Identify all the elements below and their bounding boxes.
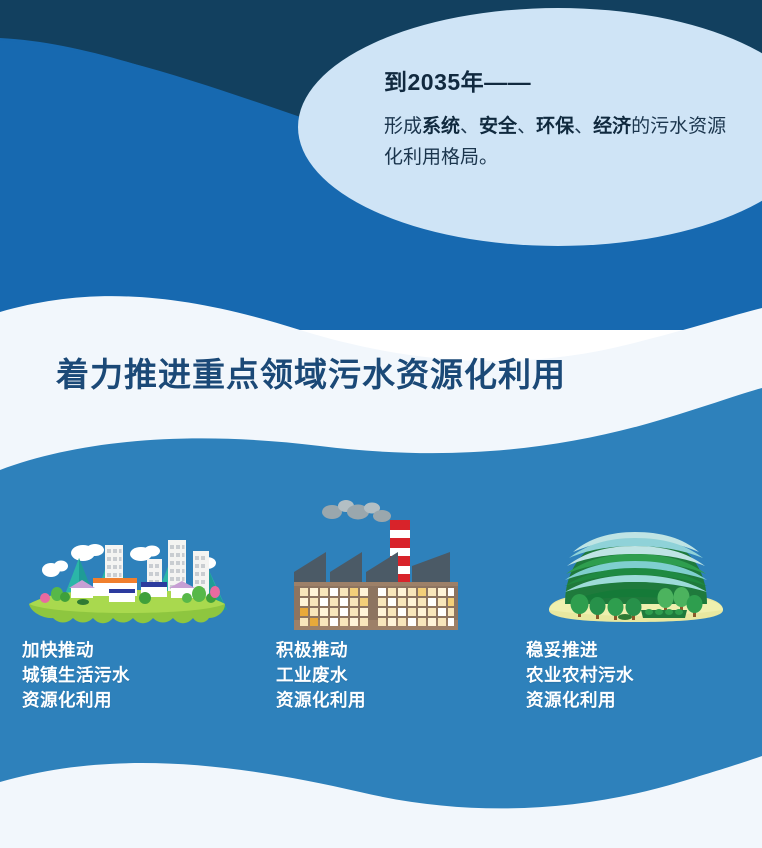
goal-sep-3: 、 [574,116,593,137]
goal-description: 形成系统、安全、环保、经济的污水资源化利用格局。 [384,112,736,174]
focus-area-rural[interactable]: 稳妥推进 农业农村污水 资源化利用 [520,480,750,713]
section-headline: 着力推进重点领域污水资源化利用 [56,348,566,396]
goal-sep-1: 、 [460,116,479,137]
goal-emphasis-safe: 安全 [479,116,517,137]
goal-emphasis-economic: 经济 [593,116,631,137]
city-landscape-icon [12,480,242,630]
focus-area-industrial[interactable]: 积极推动 工业废水 资源化利用 [266,480,496,713]
goal-year-title: 到2035年—— [384,68,736,97]
focus-area-rural-label: 稳妥推进 农业农村污水 资源化利用 [520,638,634,713]
goal-sep-2: 、 [517,116,536,137]
infographic-poster: 到2035年—— 形成系统、安全、环保、经济的污水资源化利用格局。 着力推进重点… [0,0,762,848]
goal-emphasis-eco: 环保 [536,116,574,137]
goal-lead: 形成 [384,116,422,137]
goal-emphasis-systematic: 系统 [422,116,460,137]
goal-callout-text: 到2035年—— 形成系统、安全、环保、经济的污水资源化利用格局。 [384,68,736,173]
focus-area-industrial-label: 积极推动 工业废水 资源化利用 [266,638,366,713]
terraced-field-icon [520,480,750,630]
factory-icon [266,480,496,630]
focus-areas-row: 加快推动 城镇生活污水 资源化利用 [0,480,762,740]
focus-area-municipal-label: 加快推动 城镇生活污水 资源化利用 [12,638,130,713]
focus-area-municipal[interactable]: 加快推动 城镇生活污水 资源化利用 [12,480,242,713]
